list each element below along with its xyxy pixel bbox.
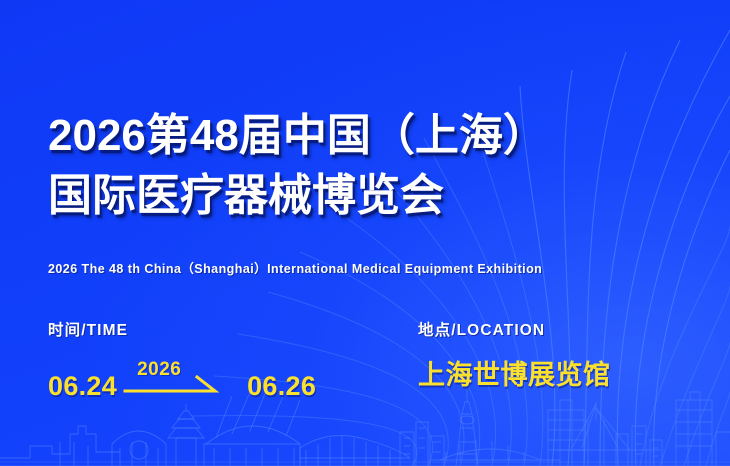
arrow-shape-icon [123,375,241,397]
location-column: 地点/LOCATION 上海世博展览馆 [418,318,611,390]
time-value: 06.24 2026 06.26 [48,360,316,401]
english-subtitle: 2026 The 48 th China（Shanghai）Internatio… [48,258,542,277]
exhibition-banner: 2026第48届中国（上海） 国际医疗器械博览会 2026 The 48 th … [0,0,730,466]
start-date: 06.24 [48,371,117,401]
venue-name: 上海世博展览馆 [418,360,611,390]
location-value: 上海世博展览馆 [418,360,611,390]
title-block: 2026第48届中国（上海） 国际医疗器械博览会 [48,108,708,224]
info-row: 时间/TIME 06.24 2026 06.26 地点/LOCATION [0,318,730,418]
time-label: 时间/TIME [48,318,316,340]
location-label: 地点/LOCATION [418,318,611,340]
title-line-1: 2026第48届中国（上海） [48,108,708,164]
title-line-2: 国际医疗器械博览会 [48,168,708,224]
date-range-arrow-icon: 2026 [123,360,241,400]
end-date: 06.26 [247,371,316,401]
time-column: 时间/TIME 06.24 2026 06.26 [48,318,316,401]
banner-content: 2026第48届中国（上海） 国际医疗器械博览会 2026 The 48 th … [0,0,730,466]
